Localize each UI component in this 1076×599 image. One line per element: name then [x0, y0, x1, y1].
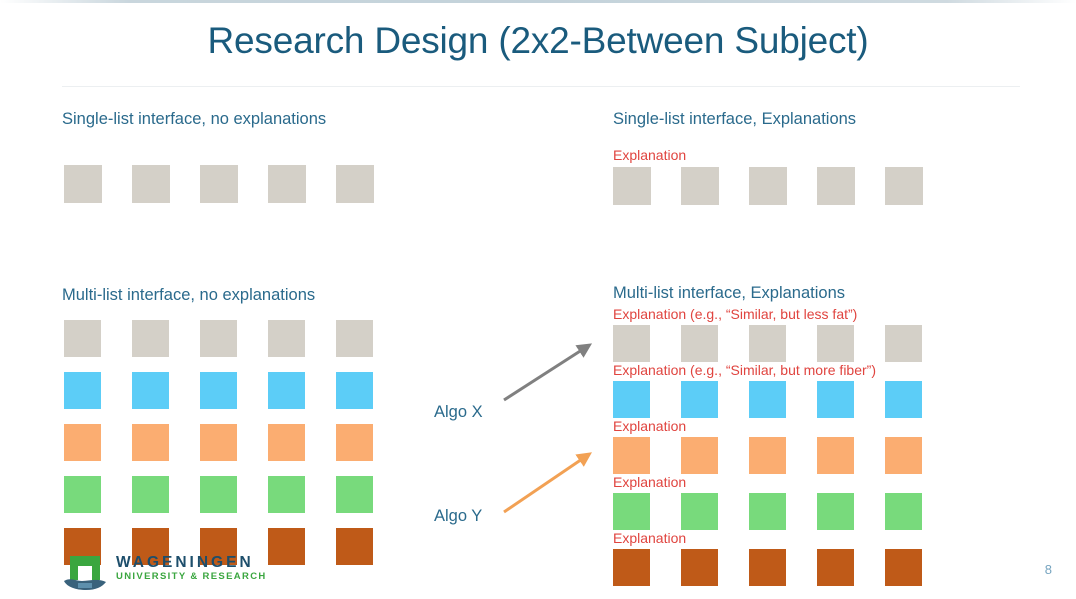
arrow-algo-y: [504, 455, 588, 512]
recommendation-item: [817, 381, 854, 418]
explanation-label: Explanation: [613, 530, 686, 546]
recommendation-item: [64, 372, 101, 409]
recommendation-item: [817, 437, 854, 474]
recommendation-item: [132, 320, 169, 357]
recommendation-item: [885, 167, 923, 205]
algo-y-label: Algo Y: [434, 507, 482, 526]
recommendation-item: [64, 320, 101, 357]
recommendation-item: [613, 381, 650, 418]
explanation-label: Explanation (e.g., “Similar, but more fi…: [613, 362, 876, 378]
recommendation-item: [200, 424, 237, 461]
quadrant-heading-bottom-right: Multi-list interface, Explanations: [613, 284, 845, 303]
wageningen-logo-mark: [62, 554, 108, 592]
recommendation-item: [817, 325, 854, 362]
recommendation-item: [268, 165, 306, 203]
explanation-label: Explanation: [613, 474, 686, 490]
recommendation-item: [132, 372, 169, 409]
wageningen-logo-text: WAGENINGEN UNIVERSITY & RESEARCH: [116, 555, 267, 583]
recommendation-item: [336, 372, 373, 409]
quadrant-heading-top-left: Single-list interface, no explanations: [62, 110, 326, 129]
recommendation-item: [681, 493, 718, 530]
recommendation-item: [749, 493, 786, 530]
recommendation-item: [885, 437, 922, 474]
recommendation-item: [268, 424, 305, 461]
recommendation-item: [268, 372, 305, 409]
recommendation-item: [64, 476, 101, 513]
quadrant-heading-bottom-left: Multi-list interface, no explanations: [62, 286, 315, 305]
recommendation-item: [749, 325, 786, 362]
top-decorative-rule: [0, 0, 1076, 3]
recommendation-item: [200, 476, 237, 513]
wageningen-logo: WAGENINGEN UNIVERSITY & RESEARCH: [62, 552, 312, 594]
header-divider-rule: [62, 86, 1020, 87]
recommendation-item: [885, 325, 922, 362]
recommendation-item: [817, 167, 855, 205]
recommendation-item: [132, 424, 169, 461]
recommendation-item: [268, 476, 305, 513]
recommendation-item: [681, 325, 718, 362]
logo-university-name: WAGENINGEN: [116, 555, 267, 571]
recommendation-item: [200, 372, 237, 409]
arrow-algo-x: [504, 346, 588, 400]
recommendation-item: [681, 381, 718, 418]
recommendation-item: [613, 493, 650, 530]
explanation-label: Explanation: [613, 147, 686, 163]
recommendation-item: [613, 437, 650, 474]
recommendation-item: [613, 549, 650, 586]
recommendation-item: [200, 320, 237, 357]
recommendation-item: [749, 381, 786, 418]
recommendation-item: [681, 437, 718, 474]
recommendation-item: [613, 167, 651, 205]
recommendation-item: [749, 549, 786, 586]
recommendation-item: [132, 476, 169, 513]
recommendation-item: [885, 549, 922, 586]
page-title: Research Design (2x2-Between Subject): [0, 20, 1076, 62]
quadrant-heading-top-right: Single-list interface, Explanations: [613, 110, 856, 129]
recommendation-item: [885, 493, 922, 530]
recommendation-item: [336, 165, 374, 203]
recommendation-item: [268, 320, 305, 357]
recommendation-item: [132, 165, 170, 203]
recommendation-item: [885, 381, 922, 418]
recommendation-item: [336, 528, 373, 565]
recommendation-item: [336, 424, 373, 461]
explanation-label: Explanation (e.g., “Similar, but less fa…: [613, 306, 857, 322]
algo-x-label: Algo X: [434, 403, 483, 422]
logo-university-subtitle: UNIVERSITY & RESEARCH: [116, 571, 267, 583]
explanation-label: Explanation: [613, 418, 686, 434]
recommendation-item: [613, 325, 650, 362]
recommendation-item: [817, 493, 854, 530]
recommendation-item: [749, 167, 787, 205]
recommendation-item: [749, 437, 786, 474]
recommendation-item: [817, 549, 854, 586]
recommendation-item: [336, 476, 373, 513]
slide-canvas: Research Design (2x2-Between Subject) Si…: [0, 0, 1076, 599]
recommendation-item: [64, 165, 102, 203]
recommendation-item: [200, 165, 238, 203]
recommendation-item: [681, 167, 719, 205]
recommendation-item: [64, 424, 101, 461]
recommendation-item: [681, 549, 718, 586]
page-number: 8: [1045, 562, 1052, 577]
recommendation-item: [336, 320, 373, 357]
